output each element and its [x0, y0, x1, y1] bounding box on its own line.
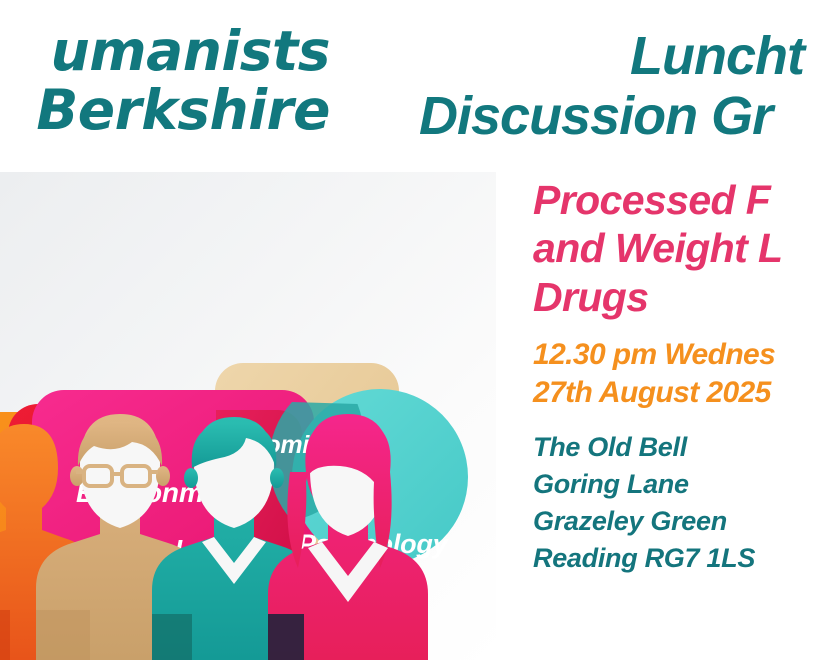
organisation-name-line2: Berkshire: [0, 81, 330, 140]
venue-name: The Old Bell: [533, 429, 840, 466]
talk-venue-address: The Old Bell Goring Lane Grazeley Green …: [533, 429, 840, 577]
event-kicker-line1: Luncht: [395, 26, 840, 86]
talk-datetime: 12.30 pm Wednes 27th August 2025: [533, 336, 840, 411]
talk-title-line2: and Weight L: [533, 224, 840, 272]
venue-street: Goring Lane: [533, 466, 840, 503]
venue-town-postcode: Reading RG7 1LS: [533, 540, 840, 577]
event-kicker-heading: Luncht Discussion Gr: [395, 26, 840, 147]
talk-time-line: 12.30 pm Wednes: [533, 336, 840, 374]
event-poster: umanists Berkshire Luncht Discussion Gr: [0, 0, 840, 660]
talk-title-line1: Processed F: [533, 176, 840, 224]
speech-bubbles-illustration: on Environment Anthropology Economics Ps…: [0, 172, 496, 660]
talk-title: Processed F and Weight L Drugs: [533, 176, 840, 321]
organisation-name-line1: umanists: [0, 22, 330, 81]
talk-details: Processed F and Weight L Drugs 12.30 pm …: [533, 176, 840, 577]
event-kicker-line2: Discussion Gr: [395, 86, 840, 146]
talk-title-line3: Drugs: [533, 273, 840, 321]
talk-date-line: 27th August 2025: [533, 374, 840, 412]
organisation-logotype: umanists Berkshire: [0, 22, 330, 140]
venue-locality: Grazeley Green: [533, 503, 840, 540]
